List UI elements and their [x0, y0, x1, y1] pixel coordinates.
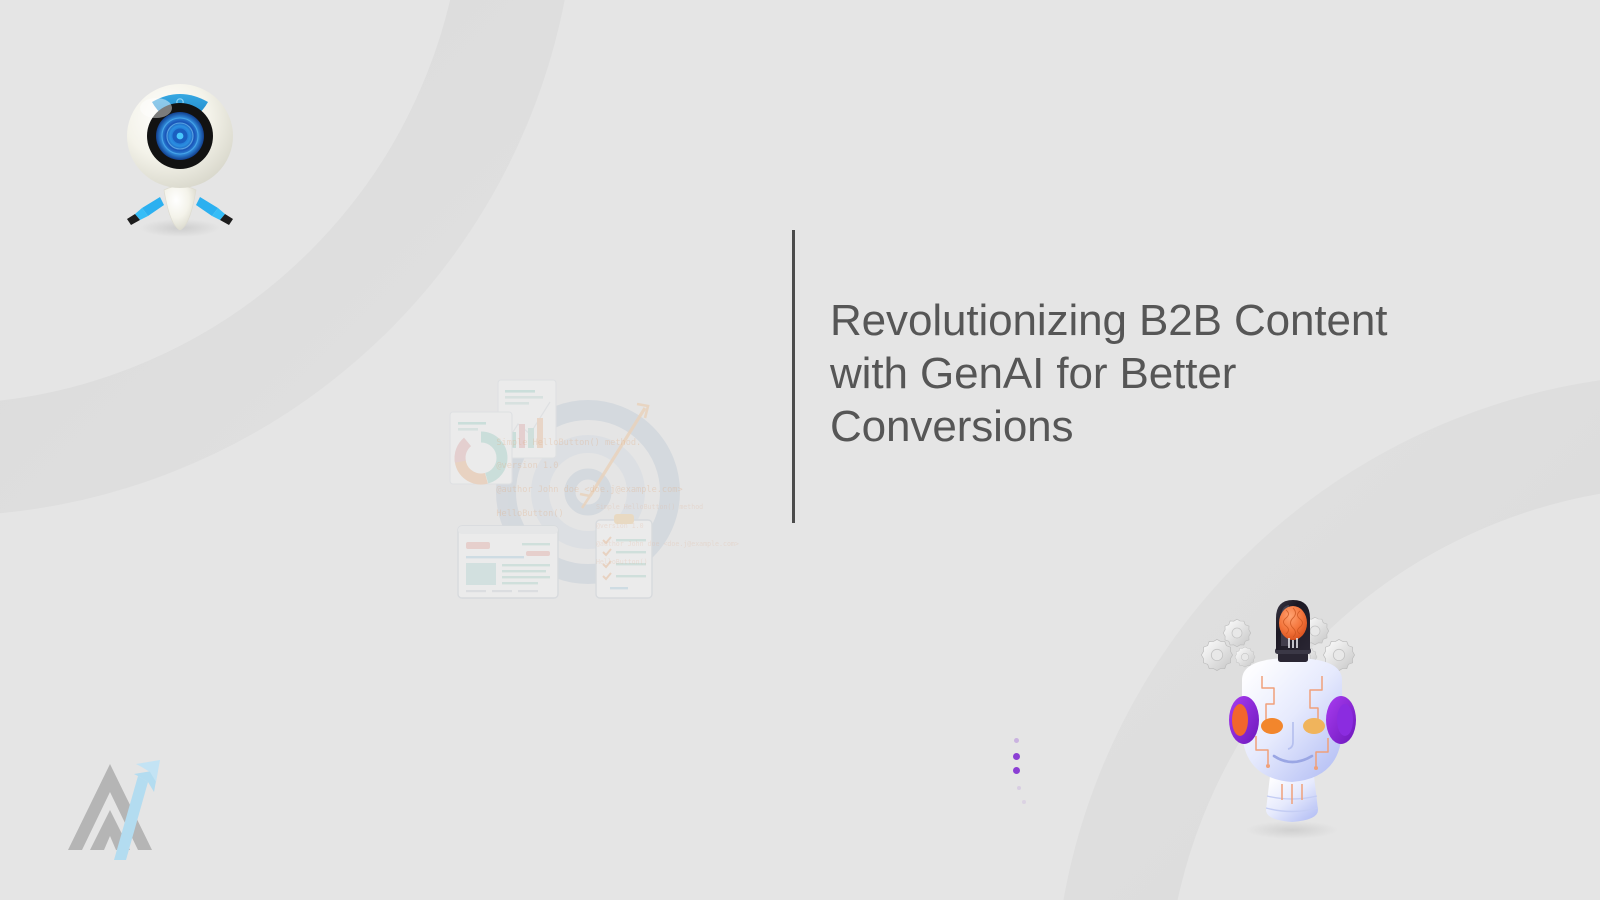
page-title-line-3: Conversions: [830, 400, 1430, 453]
ai-brain-head-graphic: [1196, 596, 1386, 840]
browser-mockup-card: [458, 526, 558, 598]
gear-icon-1: [1223, 619, 1251, 647]
accent-dot: [1017, 786, 1021, 790]
ear-left: [1229, 696, 1259, 744]
content-strategy-graphic: [440, 368, 740, 620]
accent-dot: [1013, 767, 1020, 774]
page-title-line-2: with GenAI for Better: [830, 347, 1430, 400]
robot-eye-highlight: [177, 133, 184, 140]
accent-dot: [1014, 738, 1019, 743]
ear-right: [1326, 696, 1356, 744]
page-title: Revolutionizing B2B Content with GenAI f…: [830, 294, 1430, 453]
gear-icon-2: [1201, 639, 1232, 670]
ai-brain-head-illustration: [1196, 596, 1386, 840]
eye-left: [1261, 718, 1283, 734]
accent-dot: [1022, 800, 1026, 804]
head-shadow: [1246, 821, 1338, 839]
brand-logo-mark: [60, 752, 168, 864]
center-illustration: [440, 368, 740, 620]
accent-dot: [1013, 753, 1020, 760]
title-divider: [792, 230, 795, 523]
eye-right: [1303, 718, 1325, 734]
page-title-line-1: Revolutionizing B2B Content: [830, 294, 1430, 347]
eye-robot-graphic: [118, 78, 242, 248]
gear-icon-3: [1235, 647, 1255, 667]
document-donut-chart-card: [450, 412, 512, 484]
brand-logo: [60, 752, 168, 864]
robot-head-gloss: [140, 98, 172, 118]
eye-robot-illustration: [118, 78, 242, 248]
clipboard-checklist-card: [596, 514, 652, 598]
